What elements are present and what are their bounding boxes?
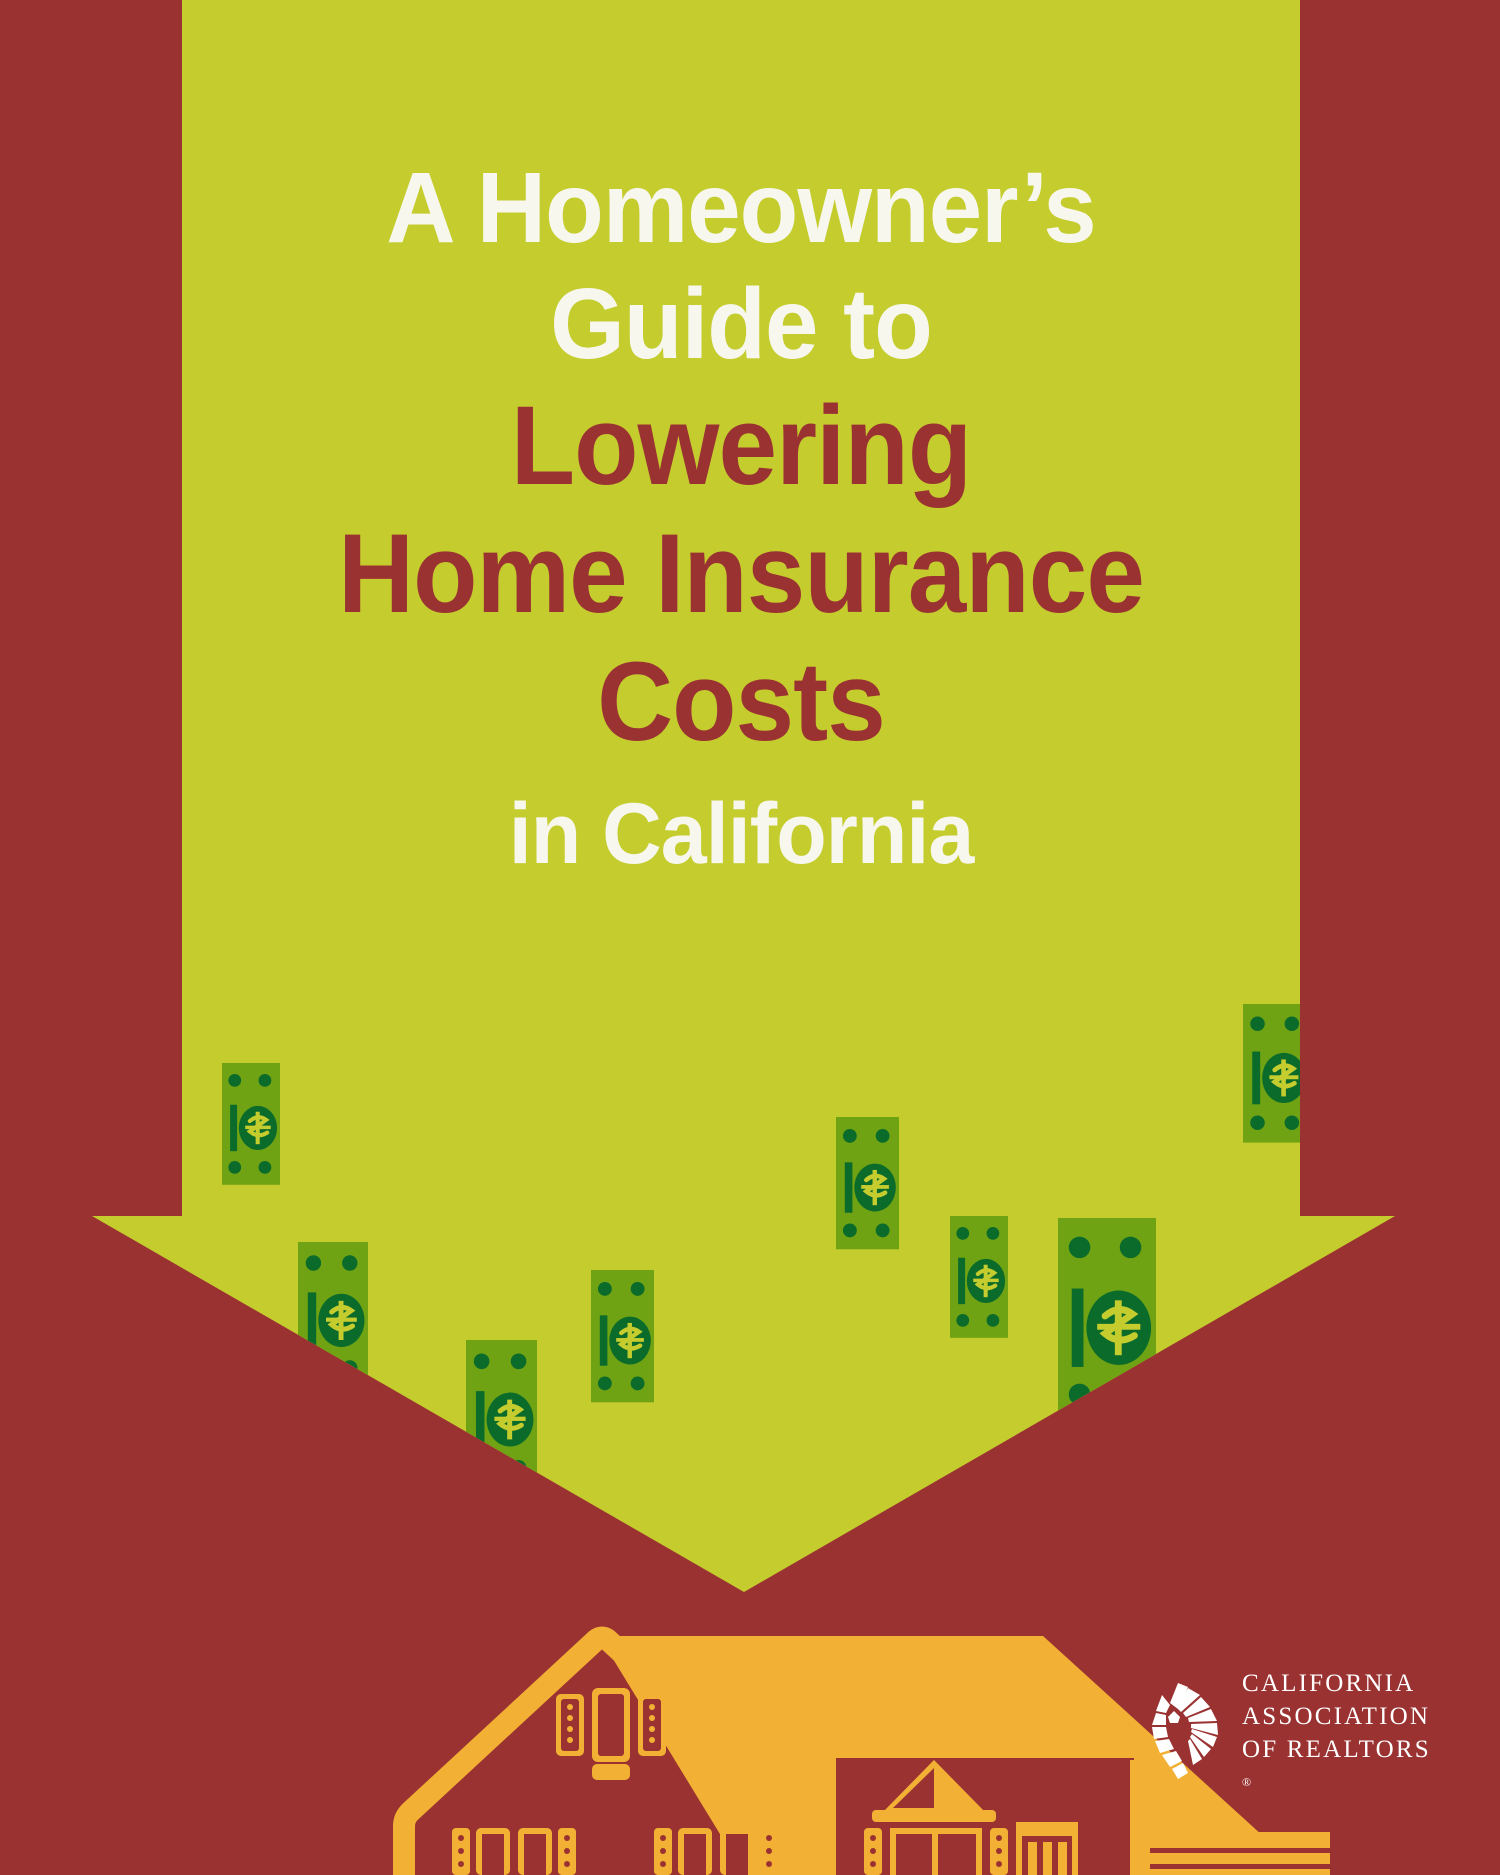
car-logo: CALIFORNIA ASSOCIATION OF REALTORS®: [1148, 1674, 1410, 1792]
registered-mark: ®: [1242, 1766, 1431, 1799]
logo-wordmark: CALIFORNIA ASSOCIATION OF REALTORS®: [1242, 1667, 1431, 1799]
money-bill: [1243, 1004, 1309, 1143]
california-bear-logo-icon: [1148, 1681, 1228, 1785]
logo-line-3: OF REALTORS: [1242, 1733, 1431, 1766]
money-bill: [950, 1216, 1008, 1338]
money-bill: [836, 1117, 899, 1249]
cover-artwork: [0, 0, 1500, 1875]
money-bill: [222, 1063, 280, 1185]
logo-line-1: CALIFORNIA: [1242, 1667, 1431, 1700]
money-bill: [591, 1270, 654, 1402]
garage-door: [1150, 1832, 1330, 1875]
logo-line-2: ASSOCIATION: [1242, 1700, 1431, 1733]
logo-line-3-wrap: OF REALTORS®: [1242, 1733, 1431, 1799]
barred-window: [1016, 1822, 1078, 1875]
brochure-cover: A Homeowner’s Guide to Lowering Home Ins…: [0, 0, 1500, 1875]
